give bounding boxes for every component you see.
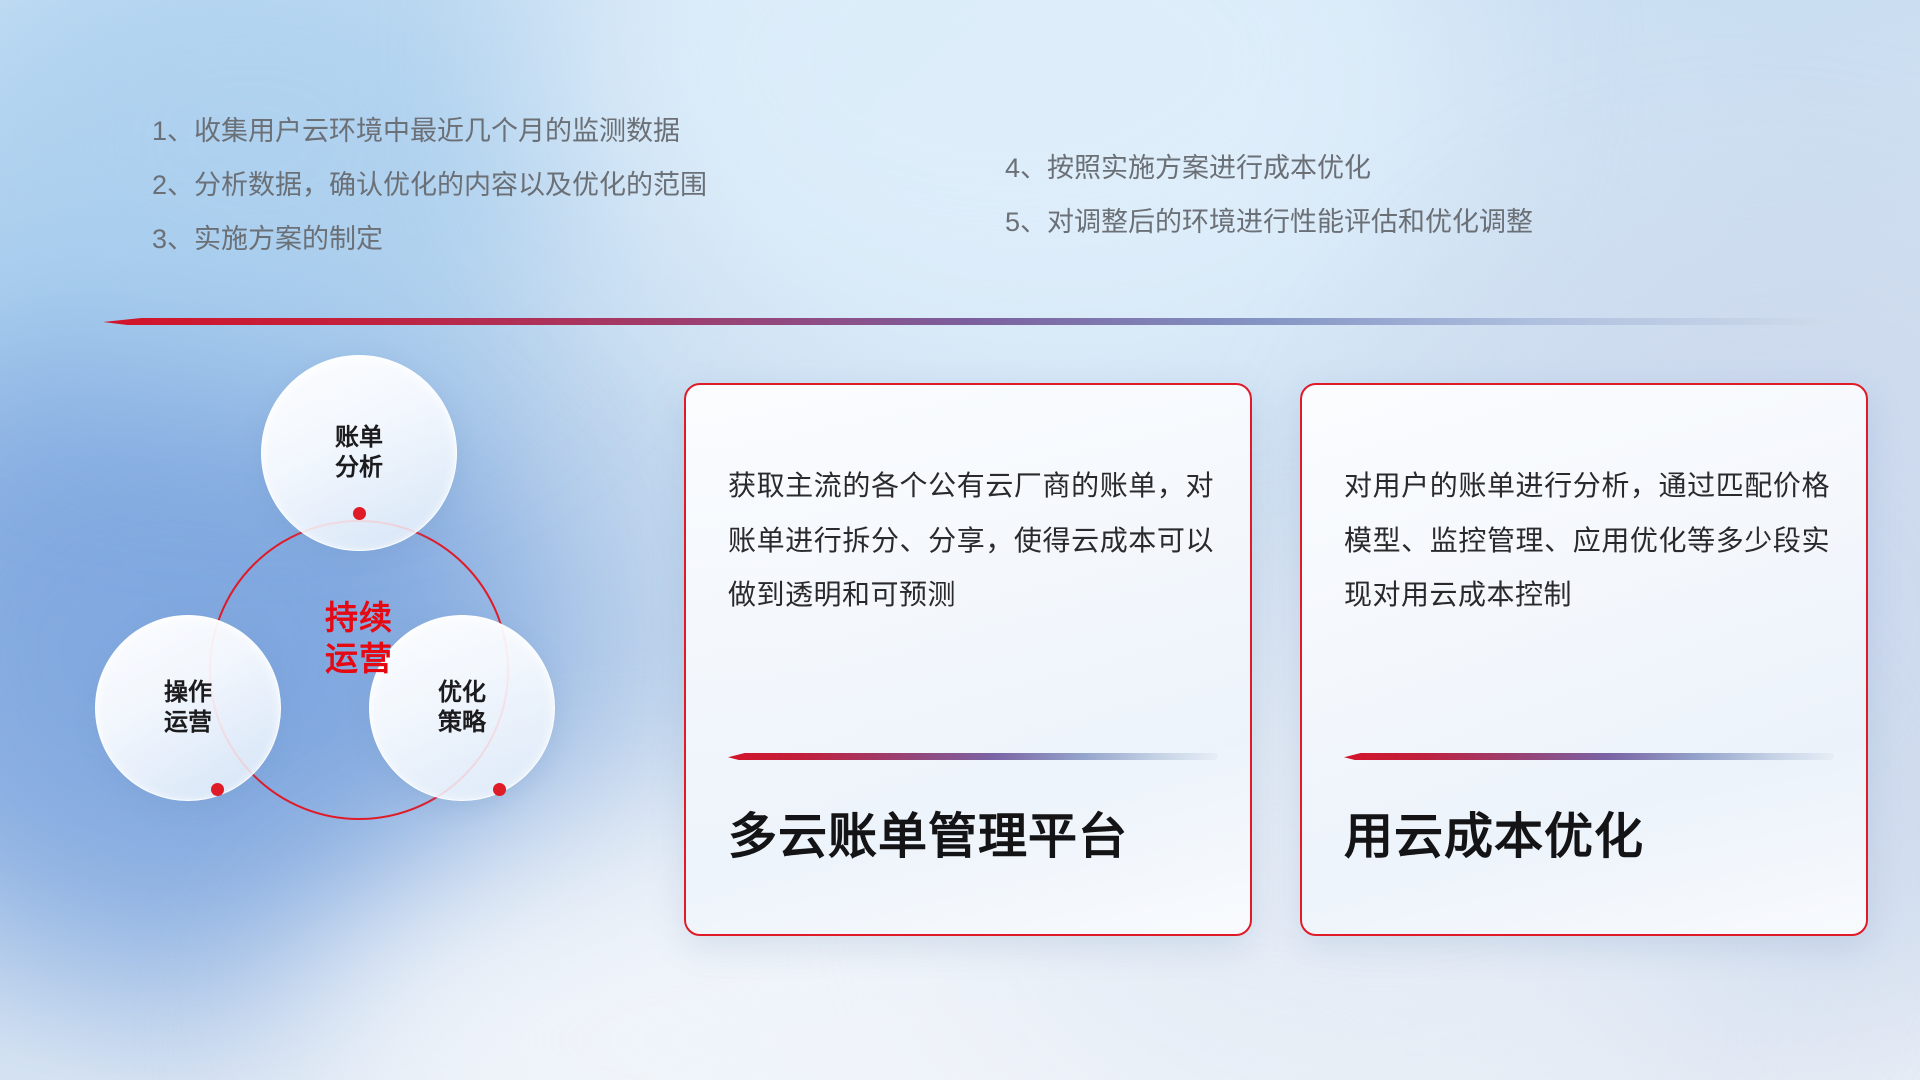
diagram-bubble-operations[interactable]: 操作 运营 bbox=[95, 615, 281, 801]
card-accent-rule bbox=[1344, 753, 1834, 760]
process-step-3: 3、实施方案的制定 bbox=[152, 226, 707, 253]
process-step-1: 1、收集用户云环境中最近几个月的监测数据 bbox=[152, 118, 707, 145]
feature-card-cloud-cost-optimization[interactable]: 对用户的账单进行分析，通过匹配价格模型、监控管理、应用优化等多少段实现对用云成本… bbox=[1300, 383, 1868, 936]
card-description: 获取主流的各个公有云厂商的账单，对账单进行拆分、分享，使得云成本可以做到透明和可… bbox=[728, 459, 1214, 623]
bubble-label-line2: 分析 bbox=[335, 453, 383, 483]
process-steps-left: 1、收集用户云环境中最近几个月的监测数据 2、分析数据，确认优化的内容以及优化的… bbox=[152, 118, 707, 280]
card-description: 对用户的账单进行分析，通过匹配价格模型、监控管理、应用优化等多少段实现对用云成本… bbox=[1344, 459, 1830, 623]
section-divider bbox=[103, 318, 1840, 325]
card-accent-rule bbox=[728, 753, 1218, 760]
diagram-center-label-line2: 运营 bbox=[259, 638, 459, 679]
diagram-center-label: 持续 运营 bbox=[259, 597, 459, 680]
bubble-label-line2: 运营 bbox=[164, 708, 212, 738]
card-title: 用云成本优化 bbox=[1344, 797, 1644, 868]
diagram-node-dot-left bbox=[211, 783, 224, 796]
card-title: 多云账单管理平台 bbox=[728, 797, 1128, 868]
continuous-operation-diagram: 账单 分析 操作 运营 优化 策略 持续 运营 bbox=[95, 355, 635, 935]
bubble-label-line1: 优化 bbox=[438, 678, 486, 708]
process-steps-right: 4、按照实施方案进行成本优化 5、对调整后的环境进行性能评估和优化调整 bbox=[1005, 155, 1533, 263]
process-step-5: 5、对调整后的环境进行性能评估和优化调整 bbox=[1005, 209, 1533, 236]
diagram-node-dot-top bbox=[353, 507, 366, 520]
bubble-label-line1: 操作 bbox=[164, 678, 212, 708]
process-step-4: 4、按照实施方案进行成本优化 bbox=[1005, 155, 1533, 182]
bubble-label-line1: 账单 bbox=[335, 423, 383, 453]
feature-card-multi-cloud-billing[interactable]: 获取主流的各个公有云厂商的账单，对账单进行拆分、分享，使得云成本可以做到透明和可… bbox=[684, 383, 1252, 936]
slide-canvas: 1、收集用户云环境中最近几个月的监测数据 2、分析数据，确认优化的内容以及优化的… bbox=[0, 0, 1920, 1080]
bubble-label-line2: 策略 bbox=[438, 708, 486, 738]
diagram-bubble-billing-analysis[interactable]: 账单 分析 bbox=[261, 355, 457, 551]
process-step-2: 2、分析数据，确认优化的内容以及优化的范围 bbox=[152, 172, 707, 199]
diagram-node-dot-right bbox=[493, 783, 506, 796]
diagram-center-label-line1: 持续 bbox=[259, 597, 459, 638]
